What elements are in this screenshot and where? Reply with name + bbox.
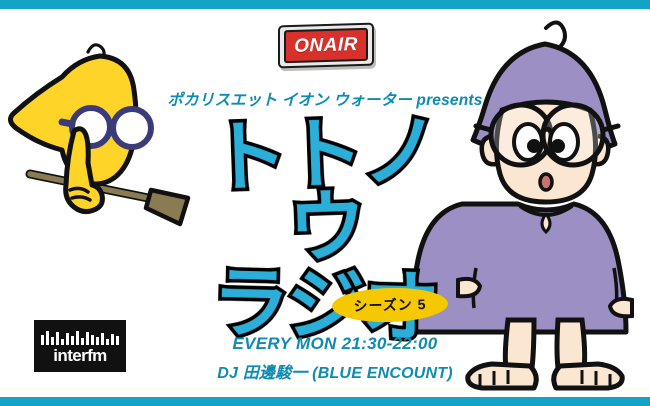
equalizer-bar	[46, 331, 49, 345]
bottom-edge-bar	[0, 397, 650, 406]
equalizer-bar	[71, 336, 74, 345]
top-edge-bar	[0, 0, 650, 9]
program-title-line-1: トトノウ	[193, 114, 458, 270]
equalizer-bar	[86, 332, 89, 345]
equalizer-bar	[61, 339, 64, 345]
equalizer-bar	[101, 333, 104, 345]
equalizer-bar	[116, 336, 119, 345]
equalizer-bar	[51, 337, 54, 345]
equalizer-bar	[106, 339, 109, 345]
broadcast-dj: DJ 田邊駿一 (BLUE ENCOUNT)	[160, 359, 510, 383]
equalizer-bars-icon	[41, 329, 119, 345]
on-air-sign: ONAIR	[278, 24, 374, 67]
program-title: トトノウ ラジオ	[195, 118, 455, 303]
equalizer-bar	[66, 333, 69, 345]
equalizer-bar	[81, 338, 84, 345]
on-air-sign-panel: ONAIR	[284, 28, 368, 63]
season-badge-label: シーズン 5	[353, 294, 426, 316]
equalizer-bar	[96, 337, 99, 345]
duck-character-illustration	[8, 38, 198, 233]
sponsor-presents-text: ポカリスエット イオン ウォーター presents	[0, 88, 650, 110]
broadcast-time: EVERY MON 21:30-22:00	[160, 334, 510, 354]
equalizer-bar	[56, 332, 59, 345]
poster-canvas: ONAIR ポカリスエット イオン ウォーター presents トトノウ ラジ…	[0, 0, 650, 406]
interfm-wordmark: interfm	[53, 347, 106, 364]
equalizer-bar	[91, 335, 94, 345]
equalizer-bar	[111, 334, 114, 345]
equalizer-bar	[41, 335, 44, 345]
interfm-station-logo: interfm	[34, 320, 126, 372]
broadcast-schedule: EVERY MON 21:30-22:00 DJ 田邊駿一 (BLUE ENCO…	[160, 334, 510, 383]
on-air-label: ONAIR	[294, 34, 358, 58]
equalizer-bar	[76, 331, 79, 345]
